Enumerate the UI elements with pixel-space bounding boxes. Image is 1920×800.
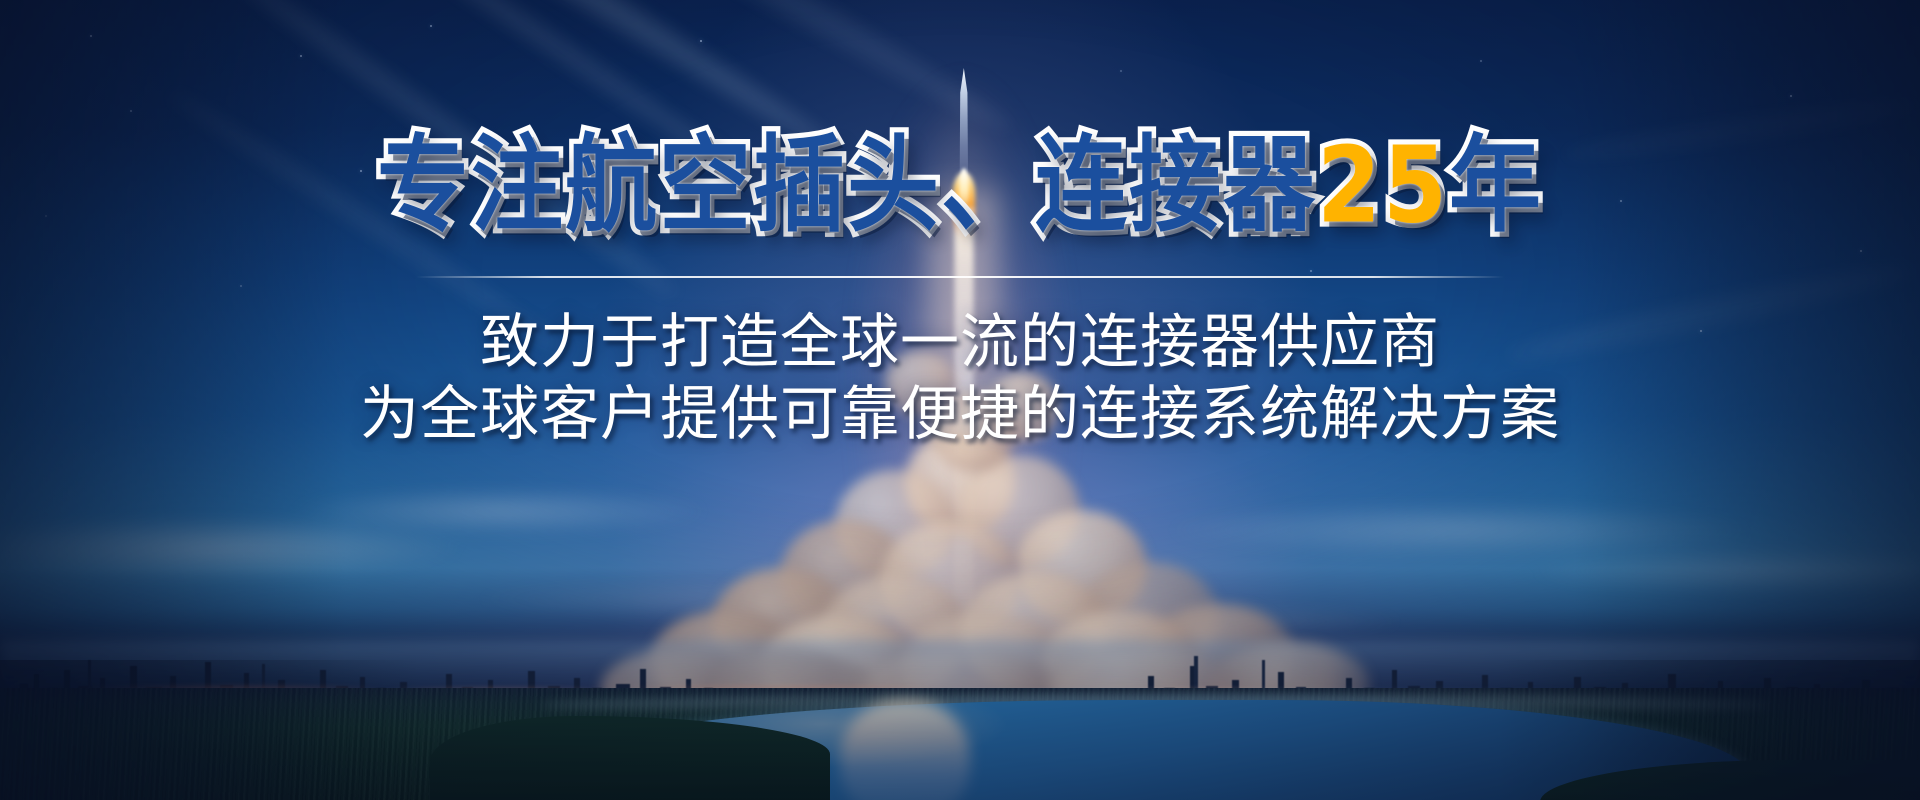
hero-banner: 专注航空插头、连接器 25 年 致力于打造全球一流的连接器供应商 为全球客户提供… (0, 0, 1920, 800)
headline-segment-years-unit: 年 (1449, 134, 1543, 239)
headline-segment-primary: 专注航空插头、连接器 (377, 134, 1317, 239)
banner-subtitle: 致力于打造全球一流的连接器供应商 为全球客户提供可靠便捷的连接系统解决方案 (360, 306, 1560, 450)
banner-headline: 专注航空插头、连接器 25 年 (377, 134, 1543, 239)
subtitle-line-2: 为全球客户提供可靠便捷的连接系统解决方案 (360, 378, 1560, 450)
headline-divider (416, 276, 1504, 278)
subtitle-line-1: 致力于打造全球一流的连接器供应商 (360, 306, 1560, 378)
headline-segment-years-number: 25 (1317, 134, 1449, 239)
